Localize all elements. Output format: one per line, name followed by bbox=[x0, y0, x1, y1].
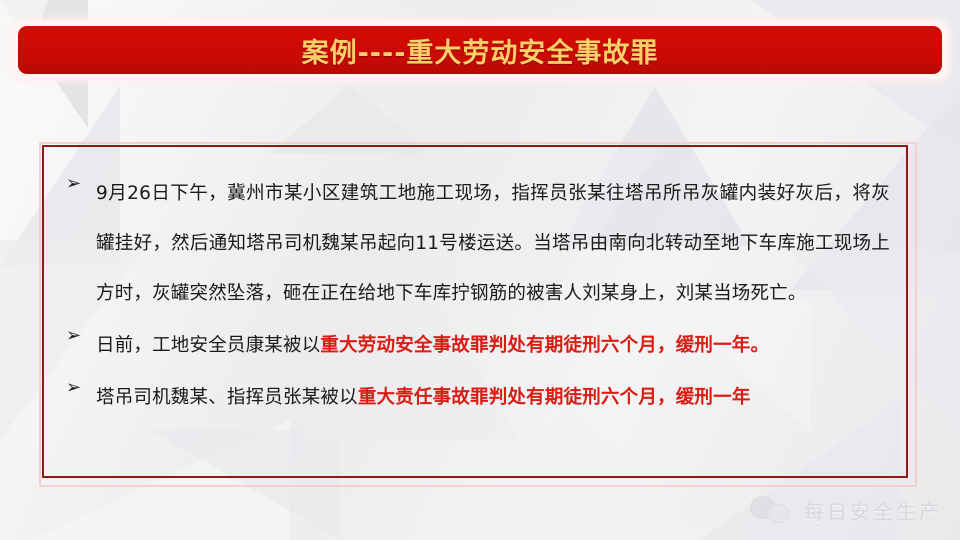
list-item-plain: 9月26日下午，冀州市某小区建筑工地施工现场，指挥员张某往塔吊所吊灰罐内装好灰后… bbox=[96, 183, 890, 304]
list-item-text: 9月26日下午，冀州市某小区建筑工地施工现场，指挥员张某往塔吊所吊灰罐内装好灰后… bbox=[96, 169, 890, 319]
watermark: 每日安全生产 bbox=[750, 494, 942, 526]
bullet-list: ➢ 9月26日下午，冀州市某小区建筑工地施工现场，指挥员张某往塔吊所吊灰罐内装好… bbox=[62, 169, 890, 423]
wechat-icon bbox=[750, 494, 796, 526]
watermark-label: 每日安全生产 bbox=[804, 496, 942, 525]
list-item-plain: 日前，工地安全员康某被以 bbox=[96, 335, 320, 356]
arrow-bullet-icon: ➢ bbox=[62, 321, 96, 351]
slide-canvas: 案例----重大劳动安全事故罪 ➢ 9月26日下午，冀州市某小区建筑工地施工现场… bbox=[0, 0, 960, 540]
title-banner-inner: 案例----重大劳动安全事故罪 bbox=[18, 26, 942, 74]
list-item-text: 塔吊司机魏某、指挥员张某被以重大责任事故罪判处有期徒刑六个月，缓刑一年 bbox=[96, 373, 890, 423]
list-item: ➢ 9月26日下午，冀州市某小区建筑工地施工现场，指挥员张某往塔吊所吊灰罐内装好… bbox=[62, 169, 890, 319]
list-item: ➢ 塔吊司机魏某、指挥员张某被以重大责任事故罪判处有期徒刑六个月，缓刑一年 bbox=[62, 373, 890, 423]
wechat-bubble-small bbox=[767, 504, 789, 523]
list-item-plain: 塔吊司机魏某、指挥员张某被以 bbox=[96, 387, 358, 408]
page-title: 案例----重大劳动安全事故罪 bbox=[302, 31, 659, 70]
list-item-highlight: 重大劳动安全事故罪判处有期徒刑六个月，缓刑一年。 bbox=[320, 335, 769, 356]
arrow-bullet-icon: ➢ bbox=[62, 373, 96, 403]
list-item: ➢ 日前，工地安全员康某被以重大劳动安全事故罪判处有期徒刑六个月，缓刑一年。 bbox=[62, 321, 890, 371]
list-item-text: 日前，工地安全员康某被以重大劳动安全事故罪判处有期徒刑六个月，缓刑一年。 bbox=[96, 321, 890, 371]
content-box: ➢ 9月26日下午，冀州市某小区建筑工地施工现场，指挥员张某往塔吊所吊灰罐内装好… bbox=[42, 145, 908, 478]
title-banner: 案例----重大劳动安全事故罪 bbox=[12, 21, 948, 79]
list-item-highlight: 重大责任事故罪判处有期徒刑六个月，缓刑一年 bbox=[358, 387, 751, 408]
arrow-bullet-icon: ➢ bbox=[62, 169, 96, 199]
